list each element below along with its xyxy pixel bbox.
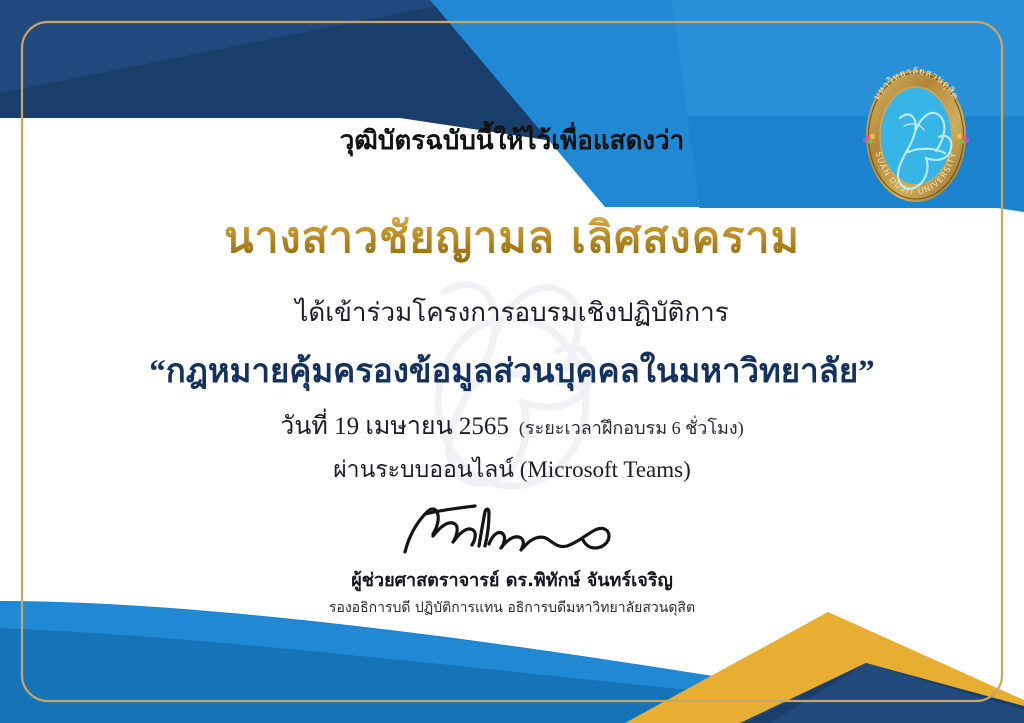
signature-area [0,498,1024,560]
signer-role: รองอธิการบดี ปฏิบัติการแทน อธิการบดีมหาว… [0,597,1024,619]
handwritten-signature-icon [397,500,627,558]
course-title: “กฎหมายคุ้มครองข้อมูลส่วนบุคคลในมหาวิทยา… [0,344,1024,397]
signer-name: ผู้ช่วยศาสตราจารย์ ดร.พิทักษ์ จันทร์เจริ… [0,565,1024,594]
certificate-statement: วุฒิบัตรฉบับนี้ให้ไว้เพื่อแสดงว่า [0,120,1024,161]
duration-text: (ระยะเวลาฝึกอบรม 6 ชั่วโมง) [519,418,744,438]
date-row: วันที่ 19 เมษายน 2565(ระยะเวลาฝึกอบรม 6 … [0,406,1024,446]
certificate-canvas: มหาวิทยาลัยสวนดุสิต SUAN DUSIT UNIVERSIT… [0,0,1024,723]
date-text: วันที่ 19 เมษายน 2565 [280,413,509,440]
platform-line: ผ่านระบบออนไลน์ (Microsoft Teams) [0,452,1024,488]
participation-line: ได้เข้าร่วมโครงการอบรมเชิงปฏิบัติการ [0,292,1024,333]
recipient-name: นางสาวชัยญามล เลิศสงคราม [0,203,1024,271]
